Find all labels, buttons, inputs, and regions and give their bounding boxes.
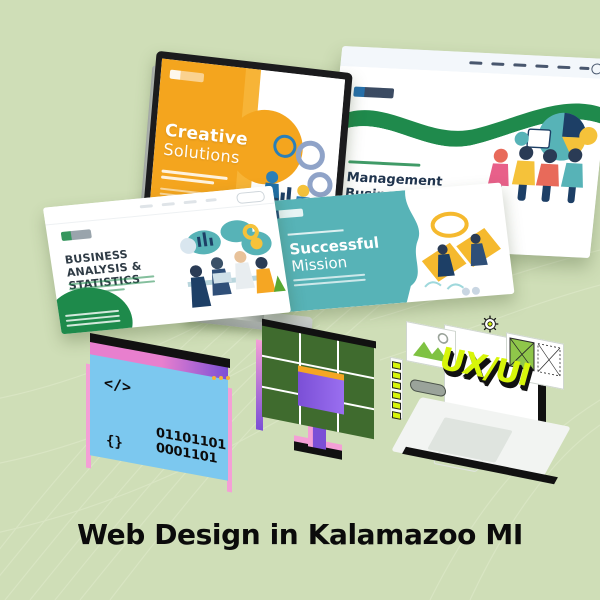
card-logo [61, 229, 92, 241]
tool-item[interactable] [392, 371, 401, 380]
tool-item[interactable] [392, 411, 401, 420]
mission-illustration [407, 196, 515, 301]
page-title: Web Design in Kalamazoo MI [0, 518, 600, 551]
code-window-illustration[interactable]: </> {} 01101101 0001101 [72, 348, 244, 500]
tool-item[interactable] [392, 391, 401, 400]
curly-brace-icon: {} [106, 432, 123, 451]
meeting-illustration [164, 212, 289, 323]
tool-item[interactable] [392, 361, 401, 370]
grid-monitor-illustration[interactable] [248, 330, 408, 500]
uxui-laptop-illustration[interactable]: UX/UI [388, 316, 600, 500]
toolbar-panel[interactable] [390, 357, 403, 420]
window-dots [212, 376, 230, 380]
search-pill-handle[interactable] [410, 378, 446, 397]
gear-icon [480, 314, 500, 334]
card-logo [353, 87, 394, 99]
business-analysis-card[interactable]: BUSINESS ANALYSIS & STATISTICS [43, 186, 291, 335]
search-pill[interactable] [236, 190, 266, 204]
tool-item[interactable] [392, 381, 401, 390]
poster-canvas: Management Business Planning [0, 0, 600, 600]
successful-mission-card[interactable]: Successful Mission [255, 183, 514, 314]
account-icon[interactable] [591, 63, 600, 74]
tool-item[interactable] [392, 401, 401, 410]
